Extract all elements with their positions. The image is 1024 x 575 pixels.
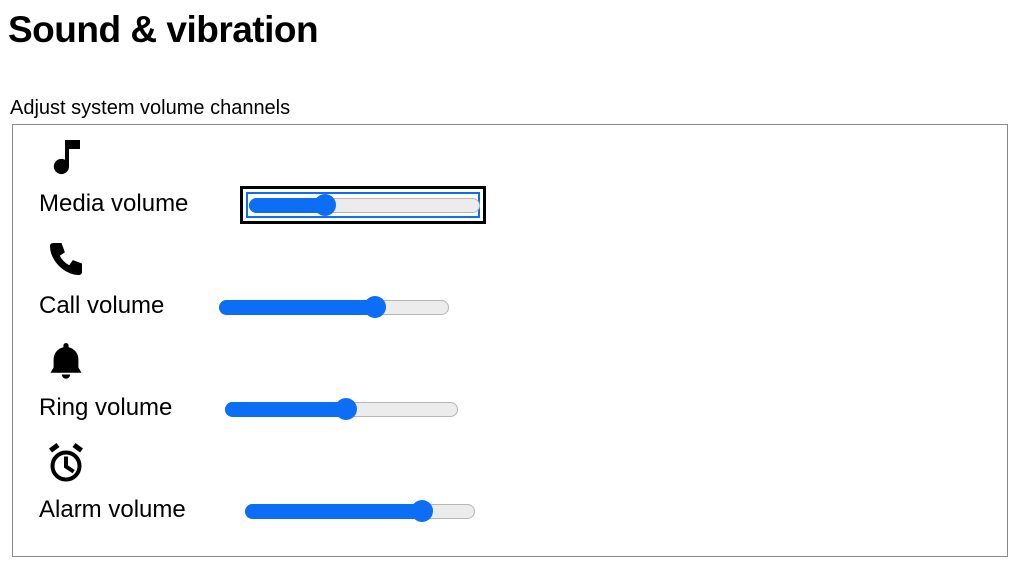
page-subtitle: Adjust system volume channels	[10, 94, 290, 122]
slider-ring-volume[interactable]	[225, 398, 458, 420]
volume-label-media: Media volume	[39, 188, 188, 220]
volume-label-ring: Ring volume	[39, 392, 172, 424]
music-note-icon	[43, 134, 89, 180]
alarm-clock-icon	[43, 440, 89, 486]
bell-icon	[43, 338, 89, 384]
volume-row-alarm: Alarm volume	[13, 432, 1007, 534]
volume-row-ring: Ring volume	[13, 330, 1007, 432]
volume-row-media: Media volume	[13, 126, 1007, 228]
slider-thumb[interactable]	[411, 500, 433, 522]
slider-thumb[interactable]	[335, 398, 357, 420]
slider-alarm-volume[interactable]	[245, 500, 475, 522]
phone-icon	[43, 236, 89, 282]
slider-media-volume[interactable]	[249, 194, 480, 216]
volume-channels-panel: Media volume Call volume	[12, 124, 1008, 557]
volume-row-call: Call volume	[13, 228, 1007, 330]
page-title: Sound & vibration	[8, 4, 318, 56]
slider-fill	[219, 300, 375, 315]
volume-label-alarm: Alarm volume	[39, 494, 186, 526]
slider-fill	[245, 504, 422, 519]
slider-fill	[225, 402, 346, 417]
slider-call-volume[interactable]	[219, 296, 449, 318]
volume-label-call: Call volume	[39, 290, 164, 322]
